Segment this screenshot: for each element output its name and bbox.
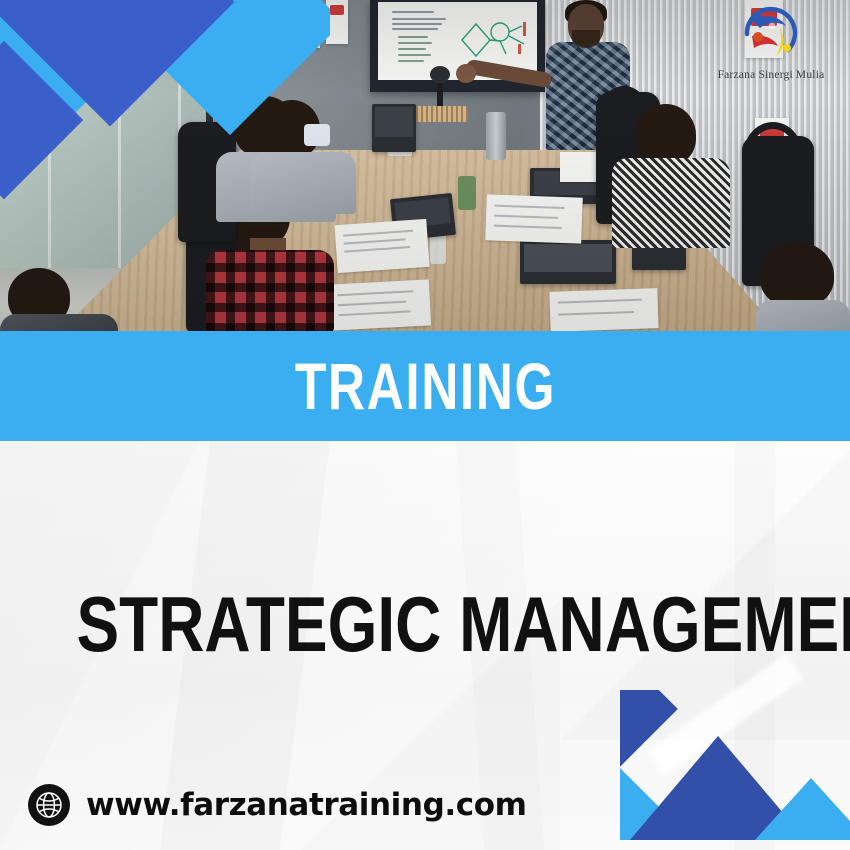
presenter-hand [456,64,476,83]
wicker-basket [416,106,468,122]
globe-icon [28,784,70,826]
handout-paper [329,279,431,330]
participant-person [0,262,120,332]
participant-shirt [756,300,850,332]
participant-person [612,104,732,236]
handout-paper [485,194,583,243]
training-banner: TRAINING [0,331,850,441]
banner-title: TRAINING [294,353,555,419]
participant-person [756,242,850,332]
drink-bottle [458,176,476,210]
chair-headrest [744,122,802,184]
laptop [520,240,616,284]
top-left-decoration [0,0,330,220]
microphone-head [430,66,450,83]
course-title: STRATEGIC MANAGEMENT [77,585,774,663]
footer-website[interactable]: www.farzanatraining.com [28,784,527,826]
poster-canvas: TRAINING STRATEGIC MANAGEMENT www.farzan… [0,0,850,850]
participant-head [760,242,834,308]
thermos-flask [486,112,506,160]
participant-plaid-shirt [206,250,334,332]
slide-diagram-icon [456,10,532,68]
participant-houndstooth-shirt [612,158,730,248]
handout-paper [549,288,658,332]
bottom-right-decoration [620,690,850,850]
presenter-beard [572,30,600,48]
laptop [372,104,416,152]
participant-head [636,104,696,166]
main-title-block: STRATEGIC MANAGEMENT [0,585,850,663]
participant-shirt [0,314,118,332]
company-logo: Farzana Sinergi Mulia [706,4,836,81]
handout-paper [334,219,429,273]
farzana-logo-mark [734,4,808,62]
website-url[interactable]: www.farzanatraining.com [86,787,527,823]
decor-light-triangle [755,778,850,840]
company-name: Farzana Sinergi Mulia [706,69,836,81]
